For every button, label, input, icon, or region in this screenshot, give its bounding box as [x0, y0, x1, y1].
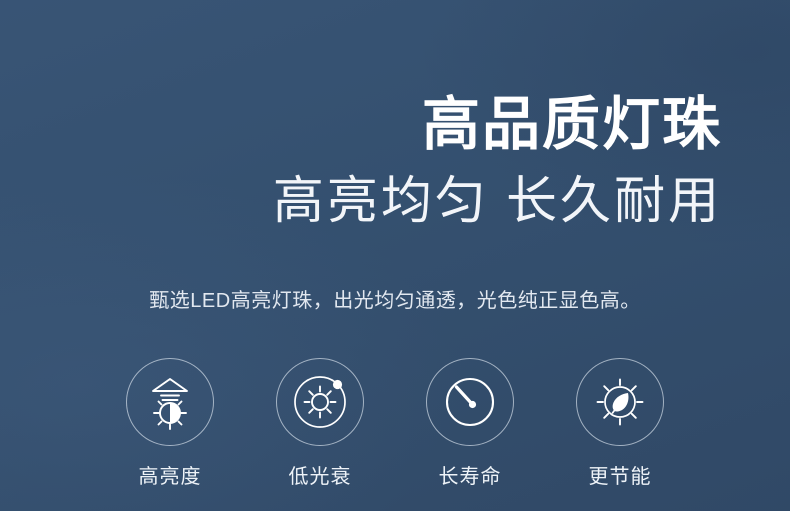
- feature-icon-circle: [576, 358, 664, 446]
- page-title: 高品质灯珠: [422, 94, 722, 156]
- feature-icon-circle: [426, 358, 514, 446]
- gauge-lifespan-icon: [439, 371, 501, 433]
- feature-label: 高亮度: [139, 465, 202, 489]
- feature-icon-circle: [276, 358, 364, 446]
- feature-label: 低光衰: [289, 465, 352, 489]
- lamp-brightness-icon: [139, 371, 201, 433]
- page-subtitle: 高亮均匀 长久耐用: [273, 172, 722, 230]
- sun-orbit-icon: [289, 371, 351, 433]
- feature-item-brightness: 高亮度: [121, 358, 219, 489]
- feature-item-lifespan: 长寿命: [421, 358, 519, 489]
- feature-item-low-decay: 低光衰: [271, 358, 369, 489]
- feature-list: 高亮度: [0, 358, 790, 489]
- leaf-energy-icon: [589, 371, 651, 433]
- feature-label: 长寿命: [439, 465, 502, 489]
- product-feature-banner: 高品质灯珠 高亮均匀 长久耐用 甄选LED高亮灯珠，出光均匀通透，光色纯正显色高…: [0, 0, 790, 511]
- feature-icon-circle: [126, 358, 214, 446]
- page-description: 甄选LED高亮灯珠，出光均匀通透，光色纯正显色高。: [0, 287, 790, 315]
- feature-item-energy-saving: 更节能: [571, 358, 669, 489]
- feature-label: 更节能: [589, 465, 652, 489]
